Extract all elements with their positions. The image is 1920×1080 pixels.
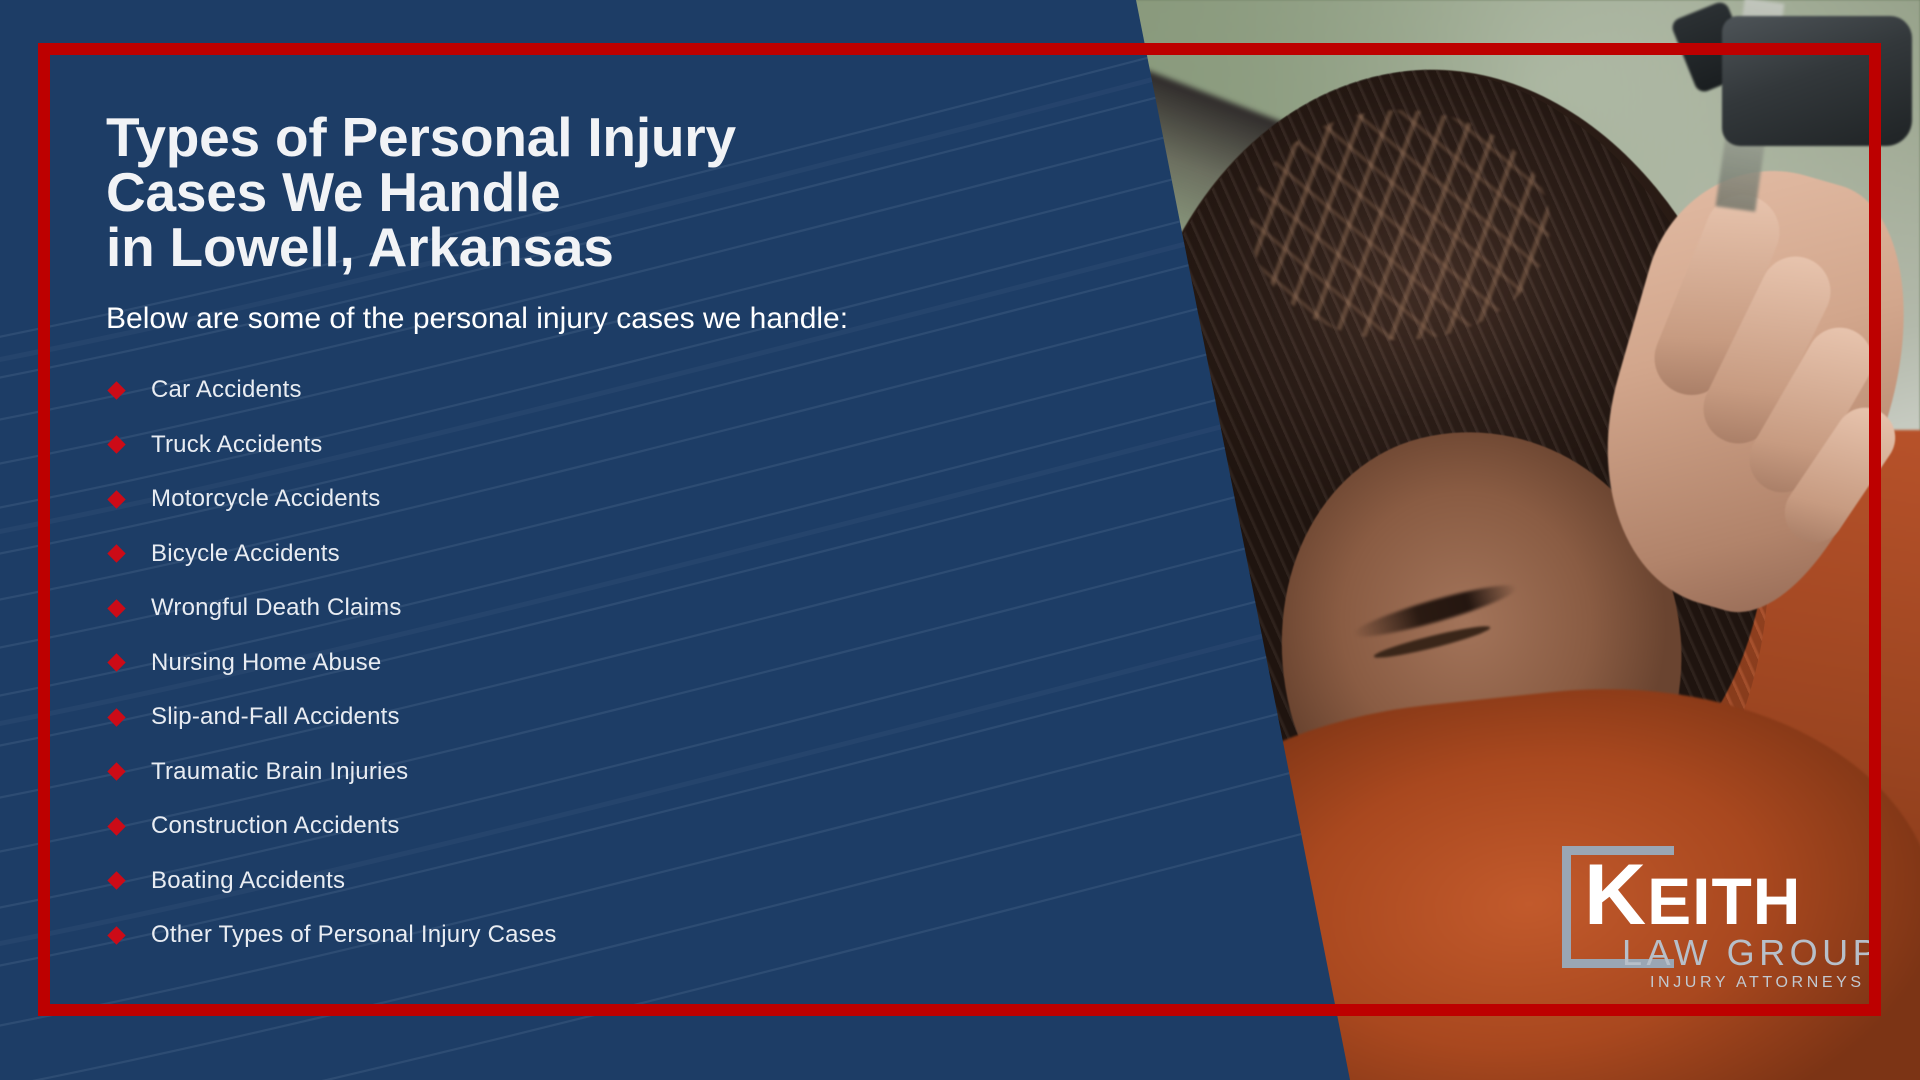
content-block: Types of Personal Injury Cases We Handle… bbox=[106, 110, 1066, 963]
page-title: Types of Personal Injury Cases We Handle… bbox=[106, 110, 1066, 275]
list-item-label: Slip-and-Fall Accidents bbox=[151, 703, 400, 731]
title-line-2: Cases We Handle bbox=[106, 165, 1066, 220]
list-item[interactable]: Nursing Home Abuse bbox=[106, 636, 1066, 691]
diamond-bullet-icon bbox=[107, 926, 125, 944]
scalp-parting-shape bbox=[1250, 110, 1550, 340]
title-line-3: in Lowell, Arkansas bbox=[106, 220, 1066, 275]
list-item-label: Construction Accidents bbox=[151, 812, 400, 840]
list-item-label: Bicycle Accidents bbox=[151, 540, 340, 568]
list-item-label: Motorcycle Accidents bbox=[151, 485, 380, 513]
diamond-bullet-icon bbox=[107, 708, 125, 726]
case-types-list: Car Accidents Truck Accidents Motorcycle… bbox=[106, 363, 1066, 963]
list-item-label: Traumatic Brain Injuries bbox=[151, 758, 408, 786]
list-item-label: Boating Accidents bbox=[151, 867, 345, 895]
keith-law-group-logo[interactable]: KEITH LAW GROUP INJURY ATTORNEYS bbox=[1562, 846, 1862, 998]
diamond-bullet-icon bbox=[107, 490, 125, 508]
logo-initial: K bbox=[1584, 847, 1647, 943]
diamond-bullet-icon bbox=[107, 817, 125, 835]
list-item-label: Nursing Home Abuse bbox=[151, 649, 381, 677]
list-item[interactable]: Motorcycle Accidents bbox=[106, 472, 1066, 527]
subheading: Below are some of the personal injury ca… bbox=[106, 301, 1066, 337]
diamond-bullet-icon bbox=[107, 872, 125, 890]
diamond-bullet-icon bbox=[107, 763, 125, 781]
list-item-label: Truck Accidents bbox=[151, 431, 323, 459]
logo-name-rest: EITH bbox=[1647, 864, 1801, 938]
diamond-bullet-icon bbox=[107, 545, 125, 563]
slide-canvas: Types of Personal Injury Cases We Handle… bbox=[0, 0, 1920, 1080]
list-item[interactable]: Truck Accidents bbox=[106, 418, 1066, 473]
logo-subtagline: INJURY ATTORNEYS bbox=[1650, 974, 1865, 992]
logo-tagline: LAW GROUP bbox=[1622, 932, 1881, 974]
list-item[interactable]: Construction Accidents bbox=[106, 799, 1066, 854]
diamond-bullet-icon bbox=[107, 381, 125, 399]
list-item[interactable]: Wrongful Death Claims bbox=[106, 581, 1066, 636]
list-item[interactable]: Slip-and-Fall Accidents bbox=[106, 690, 1066, 745]
diamond-bullet-icon bbox=[107, 436, 125, 454]
list-item[interactable]: Other Types of Personal Injury Cases bbox=[106, 908, 1066, 963]
title-line-1: Types of Personal Injury bbox=[106, 110, 1066, 165]
list-item-label: Other Types of Personal Injury Cases bbox=[151, 921, 557, 949]
diamond-bullet-icon bbox=[107, 599, 125, 617]
side-mirror-shape bbox=[1722, 16, 1912, 146]
diamond-bullet-icon bbox=[107, 654, 125, 672]
list-item[interactable]: Car Accidents bbox=[106, 363, 1066, 418]
list-item[interactable]: Bicycle Accidents bbox=[106, 527, 1066, 582]
list-item[interactable]: Traumatic Brain Injuries bbox=[106, 745, 1066, 800]
list-item-label: Car Accidents bbox=[151, 376, 302, 404]
list-item-label: Wrongful Death Claims bbox=[151, 594, 402, 622]
logo-wordmark: KEITH bbox=[1584, 852, 1801, 938]
list-item[interactable]: Boating Accidents bbox=[106, 854, 1066, 909]
